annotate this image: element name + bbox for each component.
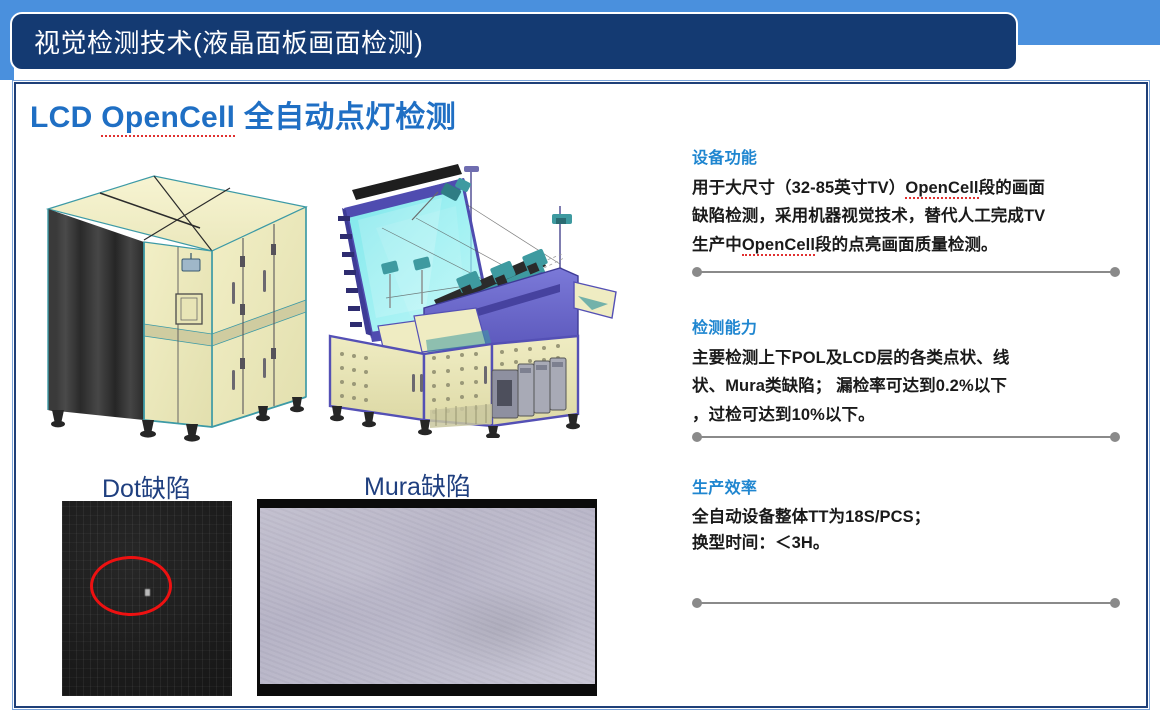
dot-defect-label: Dot缺陷 (102, 469, 191, 505)
page-title: 视觉检测技术(液晶面板画面检测) (34, 23, 423, 60)
info-heading: 检测能力 (692, 314, 1132, 338)
mura-defect-label: Mura缺陷 (364, 467, 471, 503)
section-separator (692, 267, 1120, 277)
info-block-production-efficiency: 生产效率 全自动设备整体TT为18S/PCS； 换型时间：＜3H。 (692, 474, 1132, 556)
info-line: 用于大尺寸（32-85英寸TV）OpenCell段的画面 (692, 174, 1132, 202)
info-line: 主要检测上下POL及LCD层的各类点状、线 (692, 344, 1132, 372)
machine-enclosure-figure (34, 152, 334, 442)
separator-line (700, 602, 1112, 604)
info-heading: 生产效率 (692, 474, 1132, 498)
info-body: 主要检测上下POL及LCD层的各类点状、线 状、Mura类缺陷； 漏检率可达到0… (692, 344, 1132, 429)
info-heading: 设备功能 (692, 144, 1132, 168)
dot-defect-annotation-ellipse (90, 556, 172, 616)
info-line: 缺陷检测，采用机器视觉技术，替代人工完成TV (692, 202, 1132, 230)
info-line: 状、Mura类缺陷； 漏检率可达到0.2%以下 (692, 372, 1132, 400)
dot-defect-sample-image (62, 501, 232, 696)
content-frame: LCD OpenCell 全自动点灯检测 (14, 82, 1148, 708)
separator-line (700, 271, 1112, 273)
machine-inspection-station-cad-icon (316, 158, 626, 438)
separator-knob-right (1110, 432, 1120, 442)
info-block-detection-capability: 检测能力 主要检测上下POL及LCD层的各类点状、线 状、Mura类缺陷； 漏检… (692, 314, 1132, 429)
slide-header-pill: 视觉检测技术(液晶面板画面检测) (10, 12, 1018, 71)
mura-defect-sample-image (257, 499, 597, 696)
section-title: LCD OpenCell 全自动点灯检测 (30, 92, 456, 136)
info-line: 全自动设备整体TT为18S/PCS； (692, 504, 1132, 530)
mura-mottle-texture (260, 508, 595, 684)
info-line: ，过检可达到10%以下。 (692, 401, 1132, 429)
section-title-spellchecked-term: OpenCell (101, 101, 235, 137)
section-separator (692, 598, 1120, 608)
mura-panel-surface (260, 508, 595, 684)
separator-line (700, 436, 1112, 438)
info-block-equipment-function: 设备功能 用于大尺寸（32-85英寸TV）OpenCell段的画面 缺陷检测，采… (692, 144, 1132, 259)
separator-knob-right (1110, 267, 1120, 277)
slide-root: 视觉检测技术(液晶面板画面检测) LCD OpenCell 全自动点灯检测 (0, 0, 1160, 720)
section-title-prefix: LCD (30, 101, 101, 134)
info-body: 用于大尺寸（32-85英寸TV）OpenCell段的画面 缺陷检测，采用机器视觉… (692, 174, 1132, 259)
info-line: 换型时间：＜3H。 (692, 530, 1132, 556)
info-line: 生产中OpenCell段的点亮画面质量检测。 (692, 231, 1132, 259)
separator-knob-right (1110, 598, 1120, 608)
machine-enclosure-cad-icon (34, 152, 334, 442)
machine-inspection-station-figure (316, 158, 626, 438)
info-body: 全自动设备整体TT为18S/PCS； 换型时间：＜3H。 (692, 504, 1132, 556)
section-title-suffix: 全自动点灯检测 (235, 101, 456, 134)
section-separator (692, 432, 1120, 442)
